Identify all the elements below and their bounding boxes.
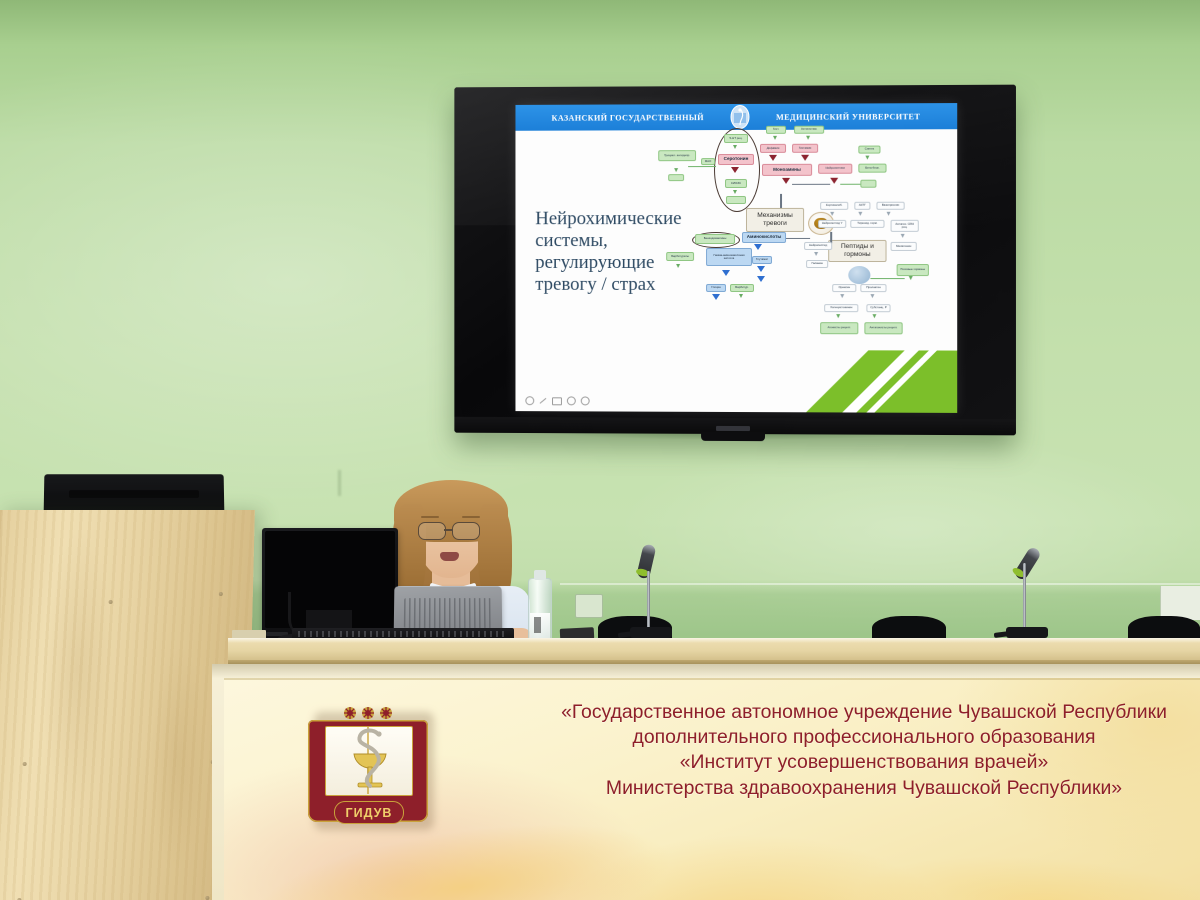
podium-monitor[interactable] — [44, 474, 225, 514]
diagram-node: Глутамат — [752, 256, 772, 264]
diagram-node: Холецистокинин — [824, 304, 858, 312]
arrow-chevron — [754, 244, 762, 250]
institution-banner: ГИДУВ «Государственное автономное учрежд… — [224, 678, 1200, 900]
banner-swirl-right — [779, 810, 1200, 900]
highlighter-icon[interactable] — [540, 398, 547, 404]
arrow-line — [792, 184, 830, 185]
wall-mounted-tv[interactable]: КАЗАНСКИЙ ГОСУДАРСТВЕННЫЙ МЕДИЦИНСКИЙ УН… — [454, 85, 1016, 436]
arrow-chevron — [757, 266, 765, 272]
diagram-node: Вазопрессин — [876, 202, 904, 210]
diagram-hub-grey — [848, 266, 870, 284]
conference-microphone-left[interactable] — [630, 534, 674, 638]
arrow-chevron — [733, 190, 737, 194]
diagram-node: СИОЗС — [725, 179, 747, 188]
diagram-node: Бензодиазепины — [695, 234, 735, 244]
arrow-chevron — [722, 270, 730, 276]
diagram-node: Орексин — [832, 284, 856, 292]
slide-header-left-text: КАЗАНСКИЙ ГОСУДАРСТВЕННЫЙ — [552, 113, 704, 123]
diagram-node: Нейропептид — [804, 242, 832, 250]
diagram-node: Кортиколиб. — [820, 202, 848, 210]
arrow-chevron — [806, 136, 810, 140]
presentation-slide: КАЗАНСКИЙ ГОСУДАРСТВЕННЫЙ МЕДИЦИНСКИЙ УН… — [515, 103, 957, 413]
arrow-chevron — [801, 155, 809, 161]
diagram-node: Антигистам. — [794, 126, 824, 134]
lecture-hall-scene: КАЗАНСКИЙ ГОСУДАРСТВЕННЫЙ МЕДИЦИНСКИЙ УН… — [0, 0, 1200, 900]
pen-icon[interactable] — [525, 396, 534, 405]
eyeglasses — [418, 522, 486, 538]
tv-brand-logo — [716, 426, 750, 431]
slide-diagram: 5-НТ рец. Серотонин СИОЗС Трицикл. антид… — [700, 123, 953, 383]
desk-top-highlight — [228, 638, 1200, 643]
diagram-node: Гист. — [766, 126, 786, 134]
diagram-node: Трицикл. антидепр. — [658, 150, 696, 161]
pointer-icon[interactable] — [581, 396, 590, 405]
arrow-line — [688, 166, 716, 167]
logo-acronym: ГИДУВ — [346, 806, 393, 820]
diagram-node: Гистамин — [792, 144, 818, 153]
arrow-line — [786, 238, 810, 239]
arrow-chevron — [901, 234, 905, 238]
diagram-node: Субстанц. Р — [866, 304, 890, 312]
slides-icon[interactable] — [552, 397, 562, 405]
diagram-node: Половые гормоны — [897, 264, 929, 276]
arrow-chevron — [830, 178, 838, 184]
diagram-node: Антагонисты рецепт. — [864, 322, 902, 334]
microphone-gooseneck — [1023, 563, 1026, 629]
arrow-chevron — [872, 314, 876, 318]
diagram-node: Галанин — [806, 260, 828, 268]
diagram-center-caption: Механизмы тревоги — [746, 208, 804, 232]
banner-top-seam — [224, 678, 1200, 680]
logo-acronym-band: ГИДУВ — [334, 801, 404, 824]
arrow-chevron — [814, 252, 818, 256]
microphone-base — [630, 627, 672, 638]
diagram-node: Нейролептики — [818, 164, 852, 174]
microphone-base — [1006, 627, 1048, 638]
wall-corner-panel — [1160, 586, 1200, 620]
arrow-chevron — [757, 276, 765, 282]
banner-text: «Государственное автономное учреждение Ч… — [524, 700, 1200, 801]
desk-front-shadow — [212, 664, 1200, 678]
banner-line-2: дополнительного профессионального образо… — [524, 725, 1200, 750]
arrow-chevron — [909, 276, 913, 280]
more-icon[interactable] — [567, 396, 576, 405]
presenter-toolbar[interactable] — [525, 396, 589, 405]
diagram-node-amino: Аминокислоты — [742, 232, 786, 243]
diagram-node: 5-НТ рец. — [724, 134, 748, 143]
diagram-caption-peptides: Пептиды и гормоны — [828, 240, 886, 262]
diagram-node: Мелатонин — [891, 242, 917, 251]
diagram-node: Гамма-аминомасляная кислота — [706, 248, 752, 266]
diagram-node: Дофамин — [760, 144, 786, 153]
giduv-logo: ГИДУВ — [308, 704, 434, 830]
diagram-node: Пролактин — [860, 284, 886, 292]
diagram-node — [668, 174, 684, 181]
arrow-chevron — [858, 212, 862, 216]
arrow-chevron — [870, 294, 874, 298]
arrow-chevron — [712, 294, 720, 300]
bowl-of-hygieia-icon — [344, 728, 396, 792]
arrow-chevron — [676, 264, 680, 268]
arrow-chevron — [731, 167, 739, 173]
slide-header-right-text: МЕДИЦИНСКИЙ УНИВЕРСИТЕТ — [776, 112, 920, 122]
arrow-chevron — [830, 212, 834, 216]
diagram-node: Нейропептид Y — [818, 220, 846, 228]
diagram-node — [726, 196, 746, 204]
arrow-chevron — [769, 155, 777, 161]
diagram-node: МАО — [701, 158, 715, 165]
diagram-node: Бета-блок. — [858, 164, 886, 173]
arrow-chevron — [773, 136, 777, 140]
diagram-node: Тиреоид. горм. — [850, 220, 884, 228]
arrow-chevron — [887, 212, 891, 216]
arrow-chevron — [865, 156, 869, 160]
diagram-node — [860, 180, 876, 188]
wall-socket — [575, 594, 603, 618]
arrow-line — [780, 194, 782, 208]
diagram-node: Барбитураты — [666, 252, 694, 261]
diagram-node: Агонисты рецепт. — [820, 322, 858, 334]
slide-decor-stripes — [806, 350, 957, 413]
tv-wall-mount — [701, 432, 765, 441]
banner-line-4: Министерства здравоохранения Чувашской Р… — [524, 776, 1200, 801]
arrow-line — [870, 278, 904, 279]
banner-line-3: «Институт усовершенствования врачей» — [524, 750, 1200, 775]
diagram-node: Барбитур. — [730, 284, 754, 292]
wall-scuff-mark — [338, 470, 341, 496]
arrow-chevron — [782, 178, 790, 184]
conference-microphone-right[interactable] — [1006, 528, 1050, 638]
arrow-chevron — [674, 168, 678, 172]
arrow-chevron — [836, 314, 840, 318]
banner-line-1: «Государственное автономное учреждение Ч… — [524, 700, 1200, 725]
arrow-chevron — [840, 294, 844, 298]
diagram-node: АКТГ — [854, 202, 870, 210]
arrow-chevron — [733, 145, 737, 149]
mouth — [440, 552, 459, 561]
diagram-node: Антагон. CRH рец. — [891, 220, 919, 232]
microphone-gooseneck — [647, 571, 650, 629]
diagram-node-serotonin: Серотонин — [718, 154, 754, 165]
arrow-chevron — [739, 294, 743, 298]
diagram-node: Синтез — [858, 146, 880, 154]
diagram-node: Глицин — [706, 284, 726, 292]
diagram-node-monoamines: Моноамины — [762, 164, 812, 176]
